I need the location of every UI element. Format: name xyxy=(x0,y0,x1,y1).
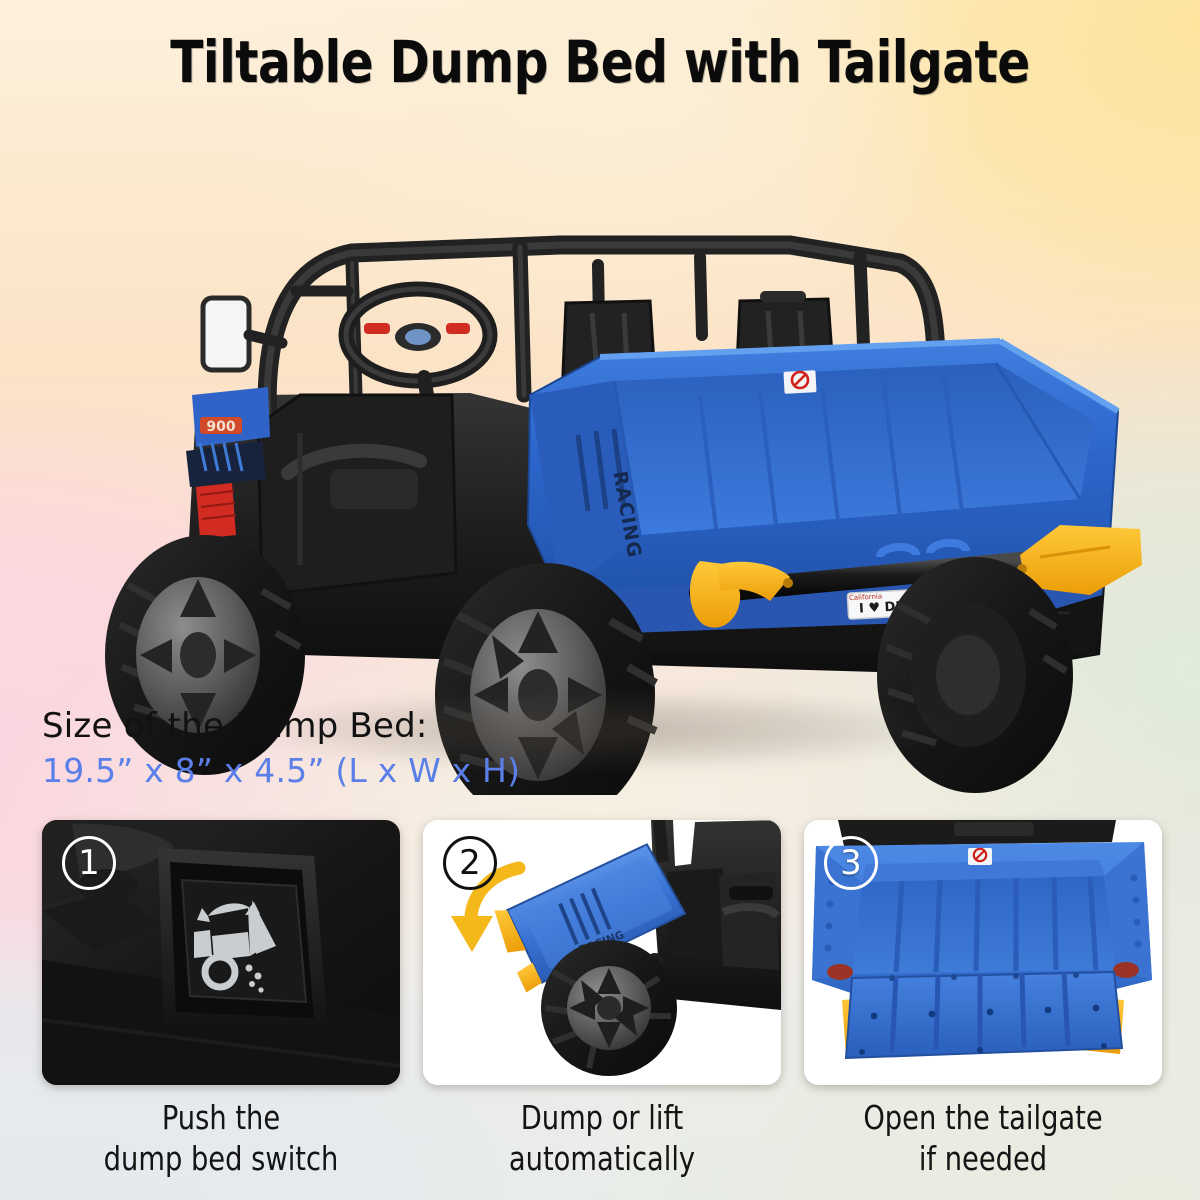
right-reflector xyxy=(1113,962,1139,978)
caption-step-1: Push the dump bed switch xyxy=(56,1098,385,1186)
hero-vehicle-image: 900 xyxy=(0,95,1200,795)
caption-1-line-1: Push the xyxy=(56,1098,385,1139)
left-reflector xyxy=(827,964,853,980)
no-riding-sticker-panel3 xyxy=(968,848,992,865)
roll-bar-stub xyxy=(659,820,663,862)
no-riding-sticker xyxy=(783,370,816,394)
size-label: Size of the Dump Bed: xyxy=(42,706,520,746)
caption-3-line-1: Open the tailgate xyxy=(818,1098,1147,1139)
step-panels: 1 xyxy=(42,820,1162,1085)
door-speaker-grille xyxy=(330,469,418,509)
caption-2-line-2: automatically xyxy=(437,1139,766,1180)
step-badge-1: 1 xyxy=(62,836,116,890)
cab-bar xyxy=(954,822,1034,836)
step-badge-2: 2 xyxy=(443,836,497,890)
size-value: 19.5” x 8” x 4.5” (L x W x H) xyxy=(42,750,520,791)
panel-open-tailgate[interactable]: 3 xyxy=(804,820,1162,1085)
caption-step-2: Dump or lift automatically xyxy=(437,1098,766,1186)
headrest-bar xyxy=(760,291,806,302)
panel-dump-bed-switch[interactable]: 1 xyxy=(42,820,400,1085)
caption-3-line-2: if needed xyxy=(818,1139,1147,1180)
dump-bed-size-block: Size of the Dump Bed: 19.5” x 8” x 4.5” … xyxy=(42,706,520,791)
bed-floor xyxy=(852,876,1116,974)
page-title: Tiltable Dump Bed with Tailgate xyxy=(42,28,1158,96)
rear-wheel-panel2 xyxy=(541,940,677,1076)
caption-1-line-2: dump bed switch xyxy=(56,1139,385,1180)
steering-red-button-right xyxy=(446,323,470,334)
step-captions: Push the dump bed switch Dump or lift au… xyxy=(42,1098,1162,1186)
open-tailgate xyxy=(846,972,1122,1058)
fender-number-text: 900 xyxy=(206,419,235,435)
panel-dump-or-lift[interactable]: RACING xyxy=(423,820,781,1085)
driver-door xyxy=(258,395,456,595)
caption-step-3: Open the tailgate if needed xyxy=(818,1098,1147,1186)
steering-red-button-left xyxy=(364,323,390,334)
step-badge-3: 3 xyxy=(824,836,878,890)
seat-bar xyxy=(729,886,773,900)
caption-2-line-1: Dump or lift xyxy=(437,1098,766,1139)
